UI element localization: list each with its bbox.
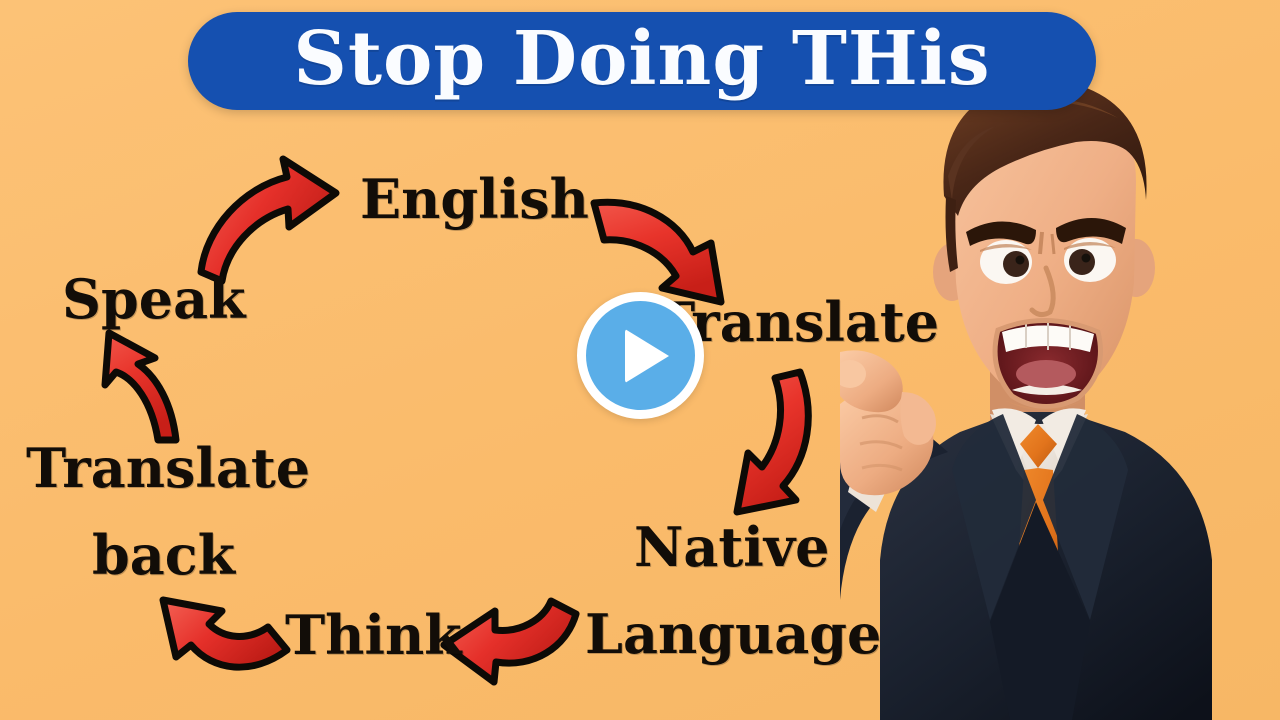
cycle-label-native: Native bbox=[634, 520, 830, 575]
page-title: Stop Doing THis bbox=[293, 22, 990, 96]
cycle-label-back: back bbox=[92, 528, 235, 583]
cycle-label-translate-back: Translate bbox=[26, 441, 310, 496]
thumbnail-canvas: English Translate Native Language Think … bbox=[0, 0, 1280, 720]
cycle-label-speak: Speak bbox=[62, 272, 246, 327]
cycle-label-think: Think bbox=[285, 608, 462, 663]
play-triangle-icon bbox=[625, 329, 669, 383]
character-head bbox=[933, 78, 1155, 411]
cycle-label-language: Language bbox=[585, 607, 881, 662]
cycle-label-english: English bbox=[360, 172, 589, 227]
play-button[interactable] bbox=[577, 292, 704, 419]
title-banner: Stop Doing THis bbox=[188, 12, 1096, 110]
